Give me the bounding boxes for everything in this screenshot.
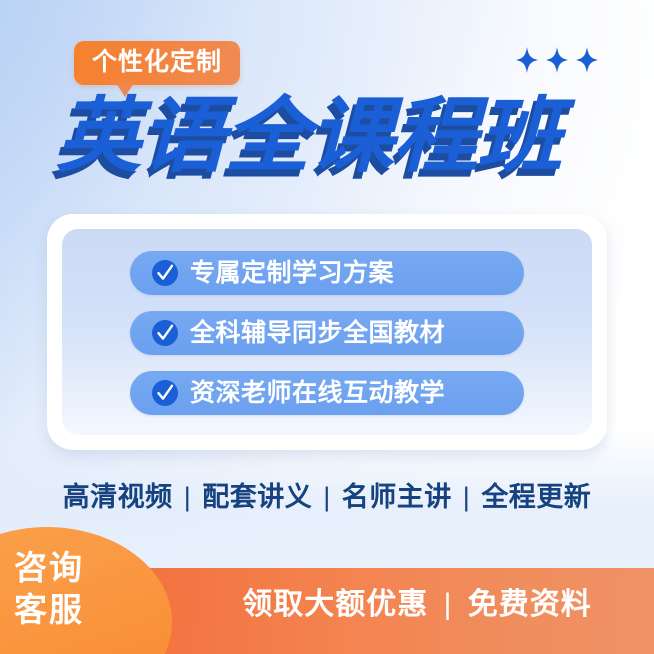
check-circle-icon — [152, 260, 178, 286]
contact-service-line-1: 咨询 — [14, 547, 144, 589]
subtitle-separator: | — [320, 482, 334, 512]
subtitle-item: 配套讲义 — [202, 482, 312, 512]
feature-card-inner: 专属定制学习方案 全科辅导同步全国教材 资深老师在线互动教学 — [62, 229, 592, 435]
subtitle-separator: | — [181, 482, 195, 512]
feature-item-label: 资深老师在线互动教学 — [190, 381, 445, 406]
cta-item: 领取大额优惠 — [242, 588, 428, 621]
promo-poster: 个性化定制 英语全课程班 英语全课程班 专属定制学习 — [0, 0, 654, 654]
feature-card: 专属定制学习方案 全科辅导同步全国教材 资深老师在线互动教学 — [47, 214, 607, 450]
check-circle-icon — [152, 380, 178, 406]
subtitle-separator: | — [460, 482, 474, 512]
feature-list: 专属定制学习方案 全科辅导同步全国教材 资深老师在线互动教学 — [62, 251, 592, 415]
subtitle-item: 全程更新 — [481, 482, 591, 512]
subtitle-item: 名师主讲 — [342, 482, 452, 512]
sparkle-decoration — [516, 47, 598, 73]
feature-item[interactable]: 专属定制学习方案 — [130, 251, 524, 295]
personalization-badge[interactable]: 个性化定制 — [74, 41, 240, 85]
feature-item[interactable]: 资深老师在线互动教学 — [130, 371, 524, 415]
page-title-text: 英语全课程班 — [56, 96, 561, 178]
contact-service-label[interactable]: 咨询 客服 — [14, 547, 144, 631]
check-circle-icon — [152, 320, 178, 346]
contact-service-line-2: 客服 — [14, 589, 144, 631]
feature-item-label: 全科辅导同步全国教材 — [190, 321, 445, 346]
sparkle-icon — [546, 47, 568, 73]
sparkle-icon — [576, 47, 598, 73]
personalization-badge-label: 个性化定制 — [92, 48, 222, 76]
feature-item[interactable]: 全科辅导同步全国教材 — [130, 311, 524, 355]
feature-item-label: 专属定制学习方案 — [190, 261, 394, 286]
page-title: 英语全课程班 英语全课程班 — [56, 96, 616, 192]
subtitle-bar: 高清视频 | 配套讲义 | 名师主讲 | 全程更新 — [0, 475, 654, 514]
cta-separator: | — [438, 588, 459, 621]
subtitle-item: 高清视频 — [63, 482, 173, 512]
cta-item: 免费资料 — [468, 588, 592, 621]
sparkle-icon — [516, 47, 538, 73]
